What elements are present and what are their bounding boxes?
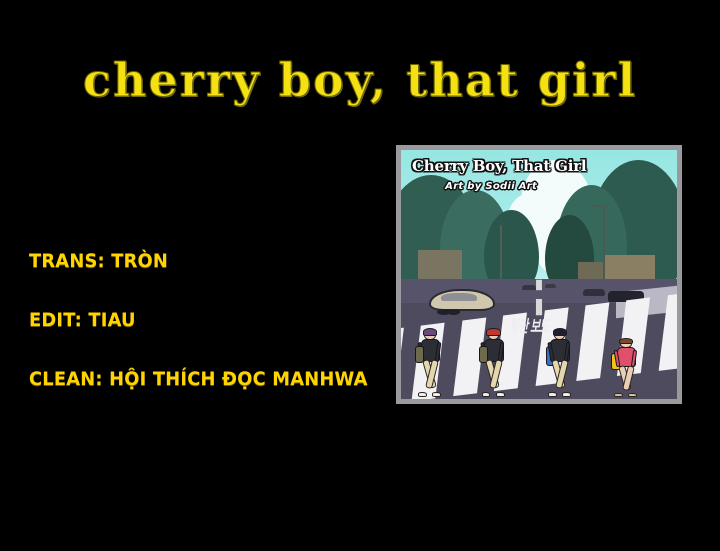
character-arm: [564, 342, 571, 362]
credit-line-edit: EDIT: TIAU: [29, 309, 353, 331]
character-girl-brown-hair: [605, 339, 649, 396]
car-window: [441, 293, 477, 300]
street-lamp-icon: [500, 225, 502, 285]
character-shoe: [614, 393, 623, 397]
car: [583, 289, 605, 296]
street-lamp-icon: [603, 205, 605, 290]
cover-artist-credit: Art by Sodii Art: [445, 181, 537, 192]
car-wheel: [447, 309, 461, 315]
crosswalk-stripe: [659, 292, 677, 371]
character-boy-red-hair: [473, 330, 517, 397]
character-shoe: [432, 392, 441, 397]
character-shoe: [482, 392, 491, 397]
credit-line-clean: CLEAN: HỘI THÍCH ĐỌC MANHWA: [29, 368, 353, 390]
character-hair: [423, 328, 437, 335]
character-shoe: [562, 392, 571, 397]
beetle-car: [429, 289, 495, 311]
character-shoe: [548, 392, 557, 397]
car: [545, 284, 556, 288]
character-shoe: [628, 393, 637, 397]
character-boy-purple-hair: [409, 330, 453, 397]
road: 횡단 보도: [401, 279, 677, 399]
character-shoe: [418, 392, 427, 397]
page-title: cherry boy, that girl: [0, 52, 720, 108]
credit-line-trans: TRANS: TRÒN: [29, 250, 353, 272]
cover-image-frame: 횡단 보도: [396, 145, 682, 404]
cover-artwork: 횡단 보도: [401, 150, 677, 399]
character-hair: [553, 328, 567, 335]
manhwa-credits-page: cherry boy, that girl TRANS: TRÒN EDIT: …: [0, 0, 720, 551]
character-hair: [619, 338, 633, 344]
cover-title: Cherry Boy, That Girl: [412, 157, 586, 175]
character-shoe: [496, 392, 505, 397]
character-hair: [486, 328, 500, 335]
credits-block: TRANS: TRÒN EDIT: TIAU CLEAN: HỘI THÍCH …: [29, 250, 374, 390]
character-boy-black-hair: [539, 330, 583, 397]
crosswalk-stripe: [401, 328, 404, 399]
car: [522, 285, 536, 290]
